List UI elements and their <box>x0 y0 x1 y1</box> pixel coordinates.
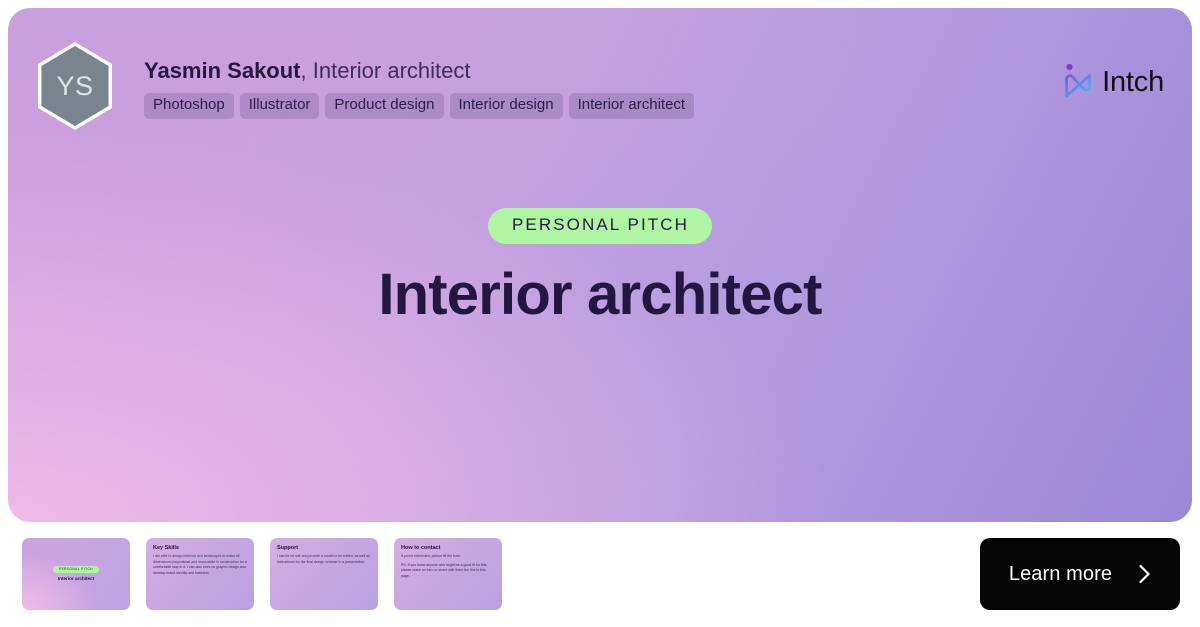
avatar-hexagon-fill: YS <box>36 46 114 126</box>
thumbnail-heading: Key Skills <box>153 545 247 552</box>
slide-thumbnail-strip: PERSONAL PITCH Interior architect Key Sk… <box>22 538 502 610</box>
identity-block: Yasmin Sakout, Interior architect Photos… <box>144 40 1061 119</box>
pitch-page: YS Yasmin Sakout, Interior architect Pho… <box>0 0 1200 627</box>
skill-tag-photoshop[interactable]: Photoshop <box>144 93 234 119</box>
slide-thumbnail-cover[interactable]: PERSONAL PITCH Interior architect <box>22 538 130 610</box>
slide-thumbnail-support[interactable]: Support I can be on site and provide a m… <box>270 538 378 610</box>
thumbnail-paragraph: PS. If you know anyone who might be a go… <box>401 563 495 579</box>
intch-n-logo-icon <box>1061 62 1095 102</box>
personal-pitch-badge: PERSONAL PITCH <box>488 208 712 244</box>
skill-tag-interior-design[interactable]: Interior design <box>450 93 563 119</box>
learn-more-button[interactable]: Learn more <box>980 538 1180 610</box>
brand-name: Intch <box>1102 68 1164 97</box>
slide-thumbnail-how-to-contact[interactable]: How to contact If you're interested, ple… <box>394 538 502 610</box>
bottom-bar: PERSONAL PITCH Interior architect Key Sk… <box>0 522 1200 627</box>
thumbnail-badge: PERSONAL PITCH <box>53 566 99 573</box>
skill-tag-illustrator[interactable]: Illustrator <box>240 93 320 119</box>
avatar: YS <box>32 42 118 130</box>
page-title: Interior architect <box>378 262 821 329</box>
thumbnail-paragraph: If you're interested, please fill the fo… <box>401 554 495 559</box>
brand-logo[interactable]: Intch <box>1061 62 1164 102</box>
identity-line: Yasmin Sakout, Interior architect <box>144 58 1061 84</box>
thumbnail-body: I am able to design interiors and landsc… <box>153 554 247 576</box>
skill-tag-product-design[interactable]: Product design <box>325 93 443 119</box>
learn-more-label: Learn more <box>1009 564 1112 584</box>
thumbnail-heading: How to contact <box>401 545 495 552</box>
thumbnail-body: If you're interested, please fill the fo… <box>401 554 495 579</box>
thumbnail-body: I can be on site and provide a model to … <box>277 554 371 565</box>
slide-thumbnail-key-skills[interactable]: Key Skills I am able to design interiors… <box>146 538 254 610</box>
profile-role: Interior architect <box>313 58 471 83</box>
hero-panel: YS Yasmin Sakout, Interior architect Pho… <box>8 8 1192 522</box>
profile-name: Yasmin Sakout <box>144 58 301 83</box>
profile-name-separator: , <box>301 58 313 83</box>
thumbnail-paragraph: I can be on site and provide a model to … <box>277 554 371 565</box>
skill-tag-interior-architect[interactable]: Interior architect <box>569 93 695 119</box>
pitch-center-block: PERSONAL PITCH Interior architect <box>8 208 1192 328</box>
skill-tag-row: Photoshop Illustrator Product design Int… <box>144 93 1061 119</box>
chevron-right-icon <box>1138 564 1151 584</box>
avatar-initials: YS <box>56 73 93 100</box>
thumbnail-heading: Support <box>277 545 371 552</box>
hero-header: YS Yasmin Sakout, Interior architect Pho… <box>8 8 1192 158</box>
thumbnail-title: Interior architect <box>58 576 94 582</box>
thumbnail-paragraph: I am able to design interiors and landsc… <box>153 554 247 576</box>
